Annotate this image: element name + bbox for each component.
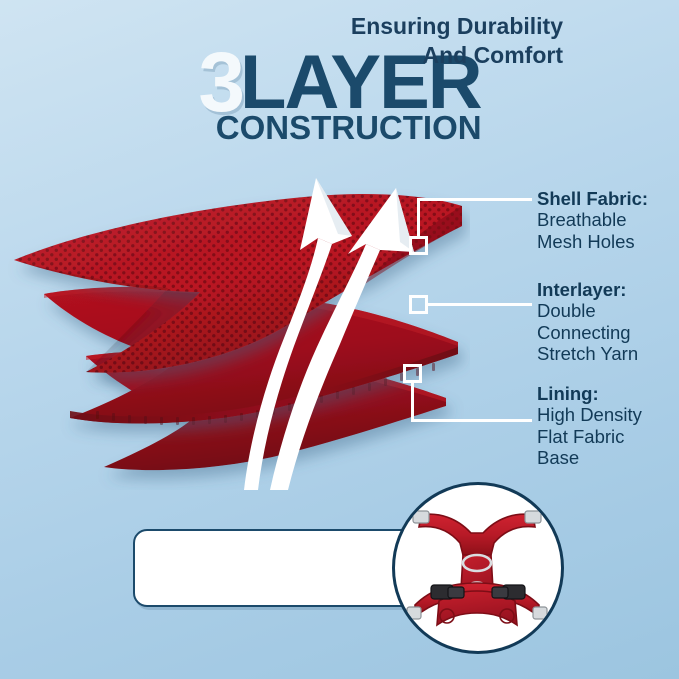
connector-interlayer-horizontal: [427, 303, 532, 306]
title-number: 3: [198, 35, 242, 129]
tagline-line-1: Ensuring Durability: [323, 12, 563, 41]
connector-shell-vertical: [417, 198, 420, 238]
callout-interlayer-line-3: Stretch Yarn: [537, 343, 638, 364]
callout-interlayer: Interlayer: Double Connecting Stretch Ya…: [537, 279, 638, 365]
layer-marker-interlayer[interactable]: [409, 295, 428, 314]
connector-shell-horizontal: [417, 198, 532, 201]
callout-interlayer-heading: Interlayer:: [537, 279, 638, 300]
callout-lining-line-3: Base: [537, 447, 642, 468]
tagline-text: Ensuring Durability And Comfort: [323, 12, 563, 71]
dog-harness-illustration: [395, 485, 561, 651]
callout-shell-fabric: Shell Fabric: Breathable Mesh Holes: [537, 188, 648, 252]
connector-lining-horizontal: [411, 419, 532, 422]
layer-marker-lining[interactable]: [403, 364, 422, 383]
callout-lining: Lining: High Density Flat Fabric Base: [537, 383, 642, 469]
callout-interlayer-line-1: Double: [537, 300, 638, 321]
harness-shoulder-straps: [419, 514, 535, 555]
product-image-circle: [392, 482, 564, 654]
fabric-layer-stack: [0, 140, 470, 490]
callout-shell-line-1: Breathable: [537, 209, 648, 230]
callout-lining-heading: Lining:: [537, 383, 642, 404]
callout-shell-heading: Shell Fabric:: [537, 188, 648, 209]
tagline-line-2: And Comfort: [323, 41, 563, 70]
fabric-stack-svg: [0, 140, 470, 490]
infographic-canvas: 3LAYER 3CONSTRUCTION: [0, 0, 679, 679]
callout-lining-line-1: High Density: [537, 404, 642, 425]
callout-lining-line-2: Flat Fabric: [537, 426, 642, 447]
callout-shell-line-2: Mesh Holes: [537, 231, 648, 252]
callout-interlayer-line-2: Connecting: [537, 322, 638, 343]
layer-marker-shell[interactable]: [409, 236, 428, 255]
connector-lining-vertical: [411, 382, 414, 422]
